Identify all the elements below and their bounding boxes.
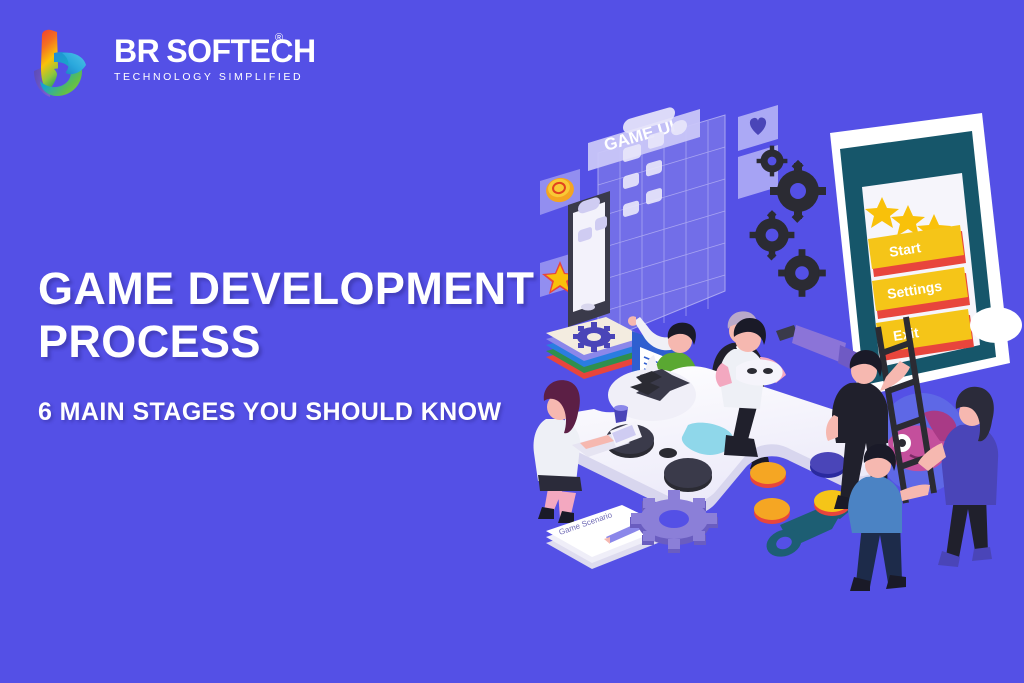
gear-purple — [630, 490, 718, 553]
screwdriver-tool — [776, 325, 858, 371]
logo-wordmark: BRSOFTECH ® TECHNOLOGY SIMPLIFIED — [114, 35, 316, 83]
phone-mockup — [568, 191, 610, 327]
registered-trademark-icon: ® — [275, 33, 283, 44]
logo-word-softech: SOFTECH — [166, 33, 315, 69]
banner-root: BRSOFTECH ® TECHNOLOGY SIMPLIFIED GAME D… — [0, 0, 1024, 683]
br-softech-b-mark-icon — [28, 27, 90, 99]
isometric-game-development-scene: GAME UI — [510, 95, 1024, 595]
heart-icon-tile — [738, 105, 778, 151]
brand-logo[interactable]: BRSOFTECH ® TECHNOLOGY SIMPLIFIED — [28, 27, 273, 105]
logo-tagline: TECHNOLOGY SIMPLIFIED — [114, 71, 316, 83]
logo-word-br: BR — [114, 33, 159, 69]
